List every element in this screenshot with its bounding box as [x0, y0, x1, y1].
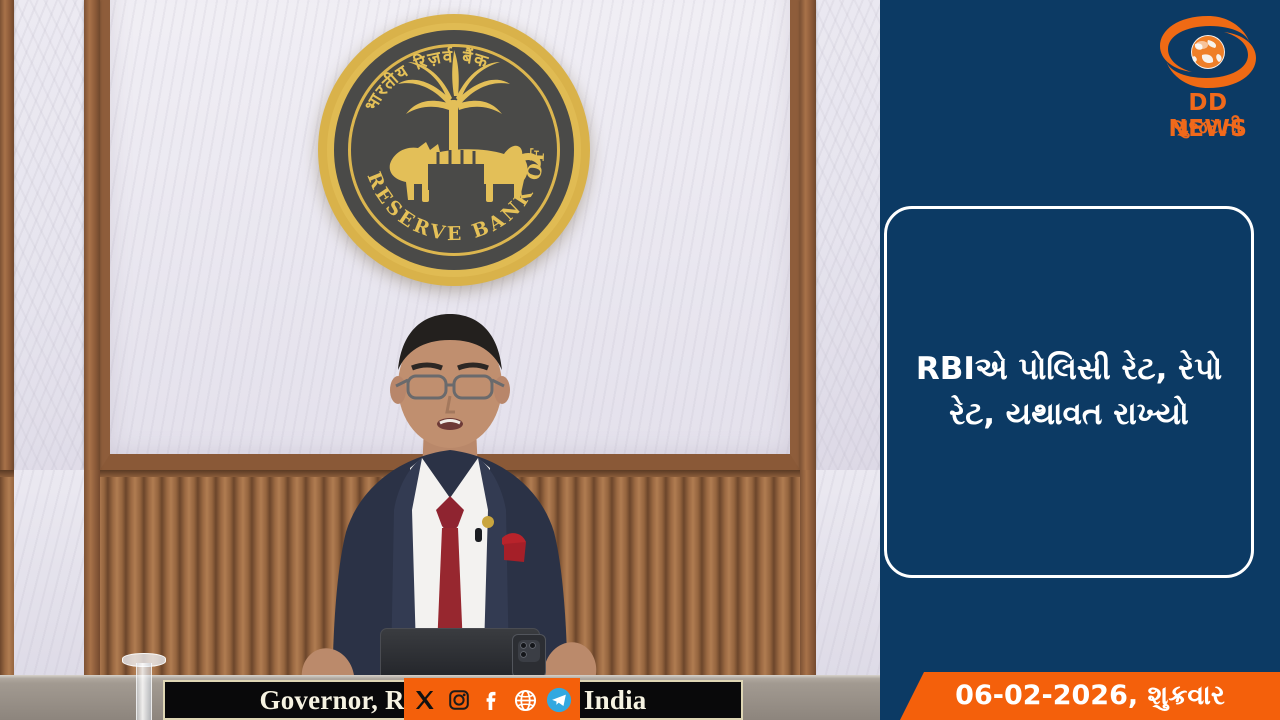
facebook-icon[interactable] [479, 687, 505, 713]
reserve-bank-of-india-seal: RESERVE BANK OF INDIA भारतीय रिज़र्व बैं… [318, 14, 590, 286]
dd-news-swirl-globe-icon [1158, 12, 1258, 92]
instagram-icon[interactable] [446, 687, 472, 713]
website-globe-icon[interactable] [513, 687, 539, 713]
smartphone-device [512, 634, 546, 678]
date-bar: 06-02-2026, શુક્રવાર [900, 672, 1280, 720]
wall-trim-strip [84, 0, 100, 470]
telegram-icon[interactable] [546, 687, 572, 713]
wainscot-frame-trim [800, 470, 816, 675]
wainscot-frame-trim [84, 470, 100, 675]
dd-news-language-label: ગુજરાતી [1152, 114, 1264, 138]
headline-text: RBIએ પોલિસી રેટ, રેપો રેટ, યથાવત રાખ્યો [905, 347, 1233, 438]
broadcast-video-feed: RESERVE BANK OF INDIA भारतीय रिज़र्व बैं… [0, 0, 880, 720]
wainscot-side-wall [816, 470, 880, 675]
wall-trim-strip [800, 0, 816, 470]
phone-camera-icon [518, 640, 540, 662]
svg-text:RESERVE BANK OF INDIA: RESERVE BANK OF INDIA [318, 14, 549, 245]
date-text: 06-02-2026, શુક્રવાર [955, 680, 1225, 712]
seal-artwork: RESERVE BANK OF INDIA भारतीय रिज़र्व बैं… [318, 14, 590, 286]
dd-news-logo: DD NEWS ગુજરાતી [1152, 12, 1264, 144]
x-twitter-icon[interactable] [412, 687, 438, 713]
social-media-strip [404, 678, 580, 720]
water-glass [122, 653, 166, 720]
wall-trim-strip [0, 0, 14, 470]
wainscot-side-wall [14, 470, 84, 675]
headline-box: RBIએ પોલિસી રેટ, રેપો રેટ, યથાવત રાખ્યો [884, 206, 1254, 578]
